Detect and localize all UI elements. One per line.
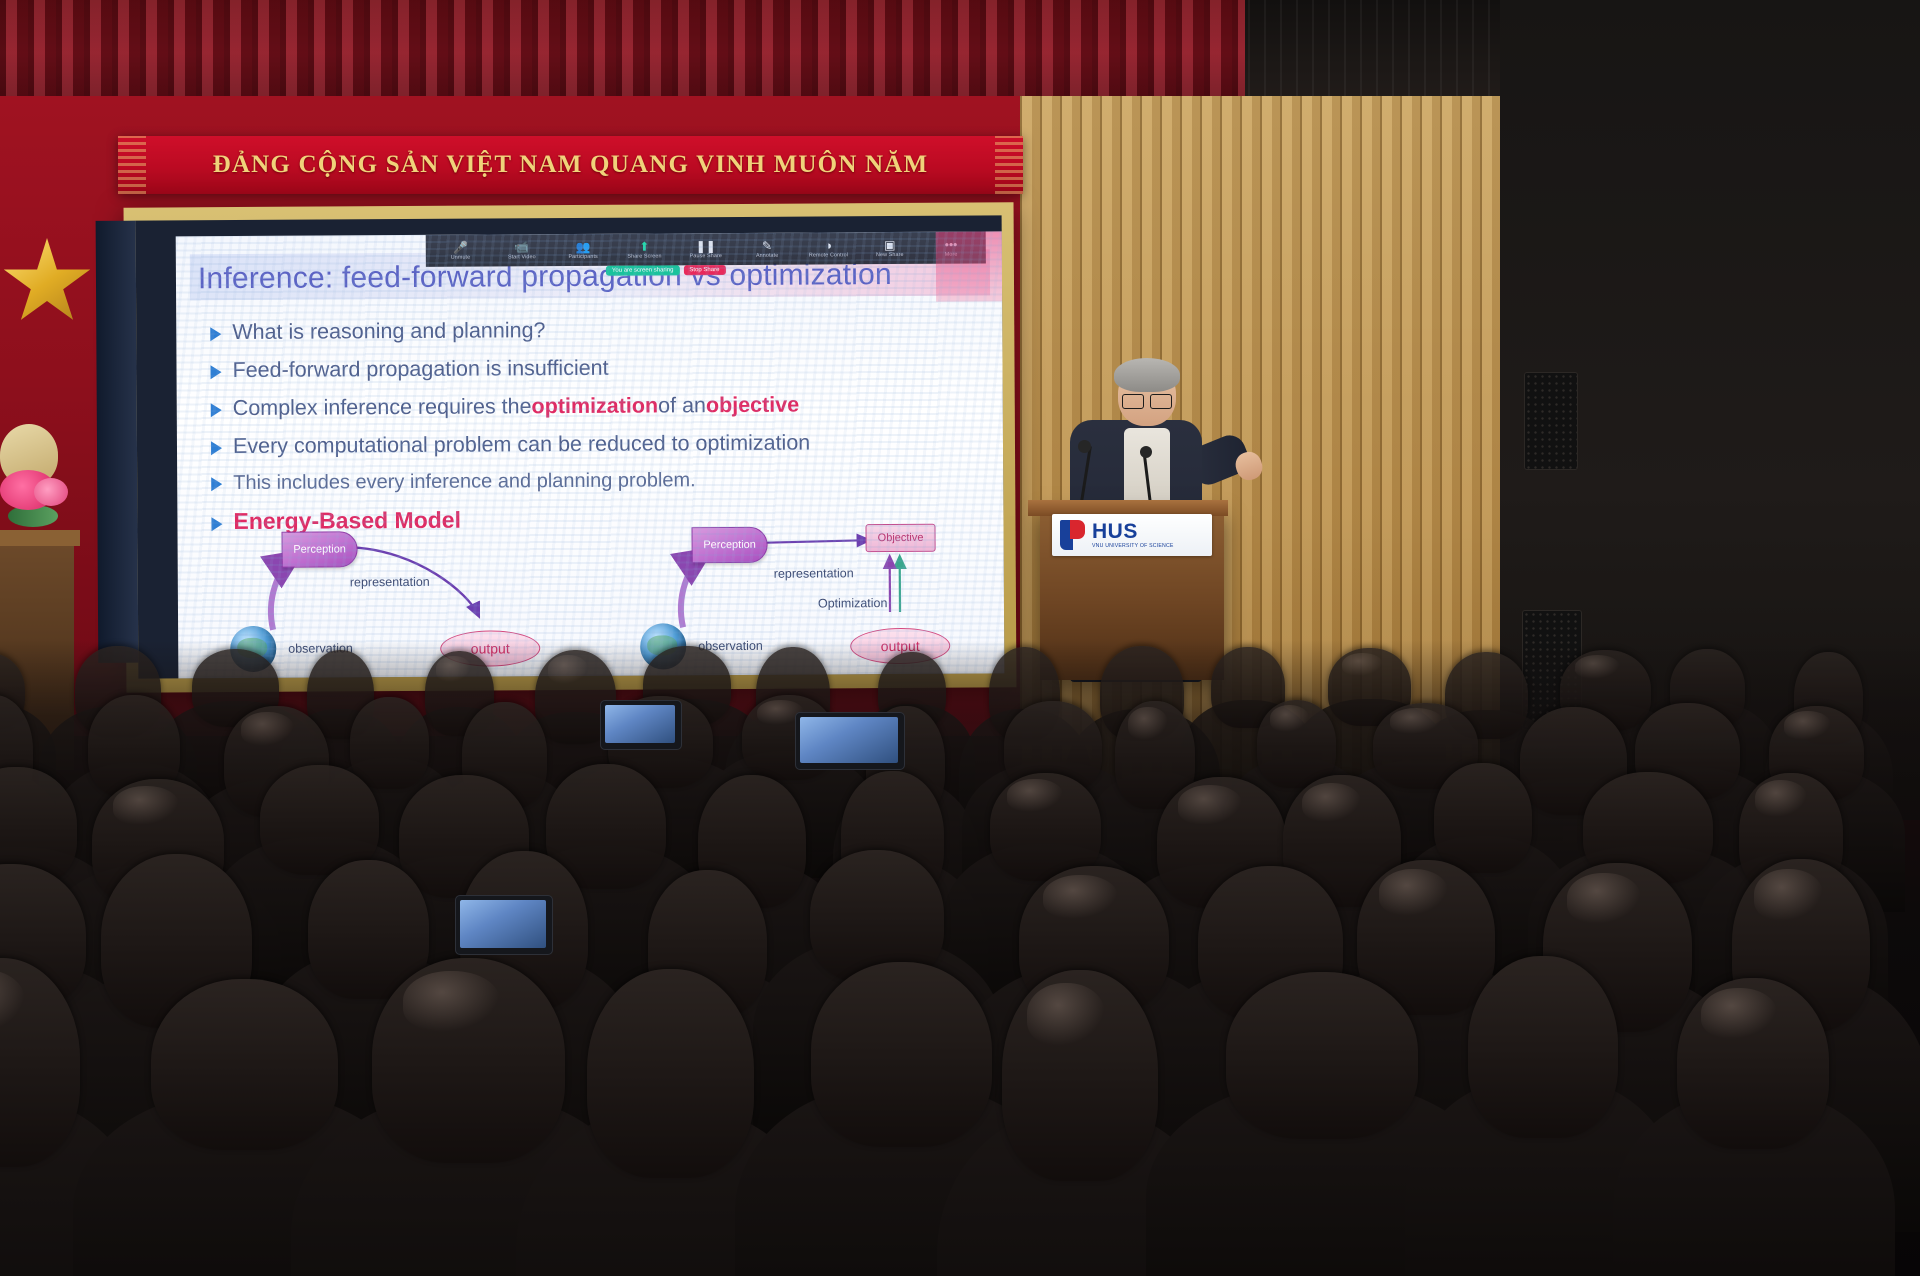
audience-head-highlight (1390, 708, 1443, 734)
podium-logo-plate: HUS VNU UNIVERSITY OF SCIENCE (1052, 514, 1212, 556)
microphone-head-left (1078, 440, 1091, 453)
toolbar-pause-share-button[interactable]: ❚❚ Pause Share (675, 239, 736, 259)
hus-logo-icon (1060, 520, 1086, 550)
toolbar-annotate-button[interactable]: ✎ Annotate (736, 239, 797, 259)
toolbar-share-screen-button[interactable]: ⬆ Share Screen (614, 239, 675, 259)
hus-logo-text: HUS (1092, 521, 1174, 542)
toolbar-new-share-button[interactable]: ▣ New Share (859, 238, 920, 258)
audience-head-highlight (1128, 707, 1168, 739)
audience-head (151, 979, 337, 1150)
audience-head (260, 765, 379, 875)
bullet-item-3: Every computational problem can be reduc… (211, 429, 1001, 459)
wall-speaker-upper (1524, 372, 1578, 470)
bullet-text: Feed-forward propagation is insufficient (232, 356, 608, 383)
audience-head-highlight (1379, 869, 1448, 916)
audience-head-highlight (1701, 988, 1777, 1040)
audience-head (811, 962, 992, 1146)
bullet-text: This includes every inference and planni… (233, 469, 696, 495)
screen-sharing-status-badge: You are screen sharing (606, 265, 680, 275)
audience-head (350, 697, 429, 789)
bullet-keyword-objective: objective (706, 393, 799, 419)
remote-control-icon: ◑ (825, 238, 832, 251)
audience-head-highlight (1270, 705, 1310, 731)
optimization-label: Optimization (818, 596, 888, 610)
venue-banner: ĐẢNG CỘNG SẢN VIỆT NAM QUANG VINH MUÔN N… (118, 136, 1023, 194)
representation-label-left: representation (350, 575, 430, 589)
banner-corner-left (118, 136, 146, 194)
audience-head-highlight (1043, 875, 1118, 920)
presentation-photo: ĐẢNG CỘNG SẢN VIỆT NAM QUANG VINH MUÔN N… (0, 0, 1920, 1276)
bullet-item-4: This includes every inference and planni… (211, 467, 1001, 495)
audience-head-highlight (1567, 873, 1641, 924)
pause-share-icon: ❚❚ (696, 239, 716, 252)
annotate-icon: ✎ (762, 239, 772, 252)
toolbar-label: Remote Control (809, 252, 848, 258)
bullet-text-mid: of an (658, 393, 706, 418)
audience-head (1226, 972, 1417, 1138)
toolbar-unmute-button[interactable]: 🎤 Unmute (430, 240, 491, 260)
audience-head-highlight (548, 655, 589, 683)
bullet-item-optimization: Complex inference requires the optimizat… (211, 391, 1001, 421)
audience-head-highlight (403, 971, 500, 1032)
presentation-slide: Inference: feed-forward propagation vs o… (176, 231, 1005, 678)
bullet-triangle-icon (211, 477, 222, 491)
perception-box-right: Perception (691, 527, 767, 563)
flower-plinth-top (0, 530, 80, 546)
bullet-triangle-icon (210, 327, 221, 341)
bullet-text: Every computational problem can be reduc… (233, 431, 810, 460)
audience-phone-screen (460, 900, 546, 948)
bullet-keyword-optimization: optimization (531, 393, 658, 419)
speaker-hair (1114, 358, 1180, 392)
bullet-triangle-icon (211, 441, 222, 455)
toolbar-start-video-button[interactable]: 📹 Start Video (491, 240, 552, 260)
audience-head-highlight (113, 786, 179, 825)
bullet-triangle-icon (211, 403, 222, 417)
audience-head-highlight (1007, 779, 1063, 811)
audience-head (587, 969, 754, 1178)
audience-head-highlight (1575, 655, 1620, 679)
projector-color-fringe (936, 231, 1002, 301)
audience-head-highlight (436, 656, 471, 681)
bullet-text-pre: Complex inference requires the (233, 394, 532, 421)
bullet-text: What is reasoning and planning? (232, 318, 545, 345)
flower-bloom-2 (34, 478, 68, 506)
video-muted-icon: 📹 (514, 240, 529, 253)
projection-screen-frame: Inference: feed-forward propagation vs o… (124, 202, 1017, 692)
toolbar-label: Share Screen (627, 253, 661, 259)
toolbar-label: Unmute (451, 255, 471, 261)
audience-head-highlight (1027, 983, 1105, 1046)
bullet-triangle-icon (210, 365, 221, 379)
meeting-toolbar[interactable]: 🎤 Unmute 📹 Start Video 👥 Participants ⬆ … (426, 231, 986, 266)
microphone-head-right (1140, 446, 1152, 458)
toolbar-label: Participants (568, 254, 597, 260)
bullet-item-2: Feed-forward propagation is insufficient (210, 353, 1000, 383)
banner-corner-right (995, 136, 1023, 194)
audience-head-highlight (1784, 711, 1832, 740)
toolbar-remote-control-button[interactable]: ◑ Remote Control (798, 238, 859, 258)
participants-icon: 👥 (576, 240, 591, 253)
audience-head-highlight (1754, 869, 1823, 921)
hus-logo-subtext: VNU UNIVERSITY OF SCIENCE (1092, 544, 1174, 549)
projection-screen-inner: Inference: feed-forward propagation vs o… (136, 215, 1005, 678)
representation-label-right: representation (774, 566, 854, 580)
slide-left-border (96, 221, 139, 663)
share-screen-icon: ⬆ (639, 240, 649, 253)
toolbar-label: New Share (876, 252, 904, 258)
toolbar-participants-button[interactable]: 👥 Participants (552, 240, 613, 260)
audience-phone-screen (605, 705, 675, 743)
toolbar-label: Pause Share (690, 253, 722, 259)
objective-box: Objective (865, 524, 935, 552)
venue-banner-text: ĐẢNG CỘNG SẢN VIỆT NAM QUANG VINH MUÔN N… (118, 136, 1023, 194)
audience-head-highlight (1302, 783, 1361, 823)
bullet-item-1: What is reasoning and planning? (210, 315, 1000, 345)
new-share-icon: ▣ (884, 238, 895, 251)
toolbar-label: Start Video (508, 254, 536, 260)
audience-head (1468, 956, 1618, 1138)
perception-box-left: Perception (282, 531, 358, 567)
stop-share-button[interactable]: Stop Share (683, 265, 725, 275)
audience-head-highlight (241, 712, 294, 745)
toolbar-label: Annotate (756, 253, 778, 259)
audience-phone-screen (800, 717, 898, 763)
speaker-glasses (1122, 394, 1172, 407)
audience-head (1434, 763, 1532, 872)
audience-head-highlight (1755, 780, 1807, 817)
audience-head-highlight (1342, 653, 1383, 676)
share-status-row: You are screen sharing Stop Share (606, 265, 726, 276)
microphone-muted-icon: 🎤 (453, 241, 468, 254)
audience-head-highlight (1178, 785, 1242, 824)
